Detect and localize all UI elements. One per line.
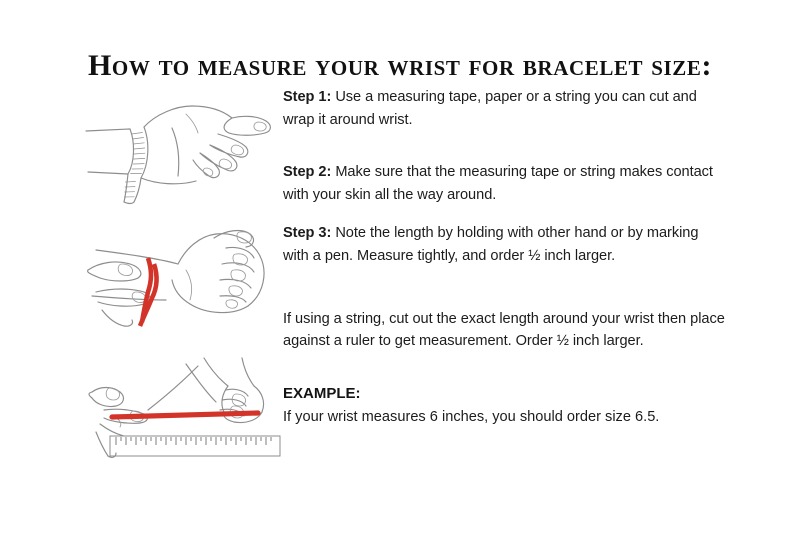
red-string-icon bbox=[112, 413, 258, 417]
page-title: How to measure your wrist for bracelet s… bbox=[88, 49, 728, 83]
step-2-label: Step 2: bbox=[283, 164, 331, 180]
string-against-ruler-illustration bbox=[86, 358, 281, 462]
example-text: If your wrist measures 6 inches, you sho… bbox=[283, 406, 728, 428]
ruler-icon bbox=[110, 436, 280, 456]
step-3-text: Note the length by holding with other ha… bbox=[283, 225, 698, 264]
wrist-measurement-infographic: How to measure your wrist for bracelet s… bbox=[0, 0, 794, 546]
step-1-text: Use a measuring tape, paper or a string … bbox=[283, 89, 697, 128]
step-1-label: Step 1: bbox=[283, 89, 331, 105]
hand-outline-icon bbox=[88, 231, 265, 327]
hand-with-red-string-illustration bbox=[86, 218, 276, 330]
hand-outline-icon bbox=[86, 106, 270, 204]
step-2-text: Make sure that the measuring tape or str… bbox=[283, 164, 713, 203]
hand-with-measuring-tape-illustration bbox=[86, 84, 276, 204]
instructions-column: Step 1: Use a measuring tape, paper or a… bbox=[283, 86, 728, 428]
step-3-paragraph: Step 3: Note the length by holding with … bbox=[283, 222, 728, 267]
step-3-label: Step 3: bbox=[283, 225, 331, 241]
string-note-paragraph: If using a string, cut out the exact len… bbox=[283, 308, 728, 353]
step-1-paragraph: Step 1: Use a measuring tape, paper or a… bbox=[283, 86, 728, 131]
step-2-paragraph: Step 2: Make sure that the measuring tap… bbox=[283, 161, 728, 206]
example-heading: EXAMPLE: bbox=[283, 383, 728, 404]
